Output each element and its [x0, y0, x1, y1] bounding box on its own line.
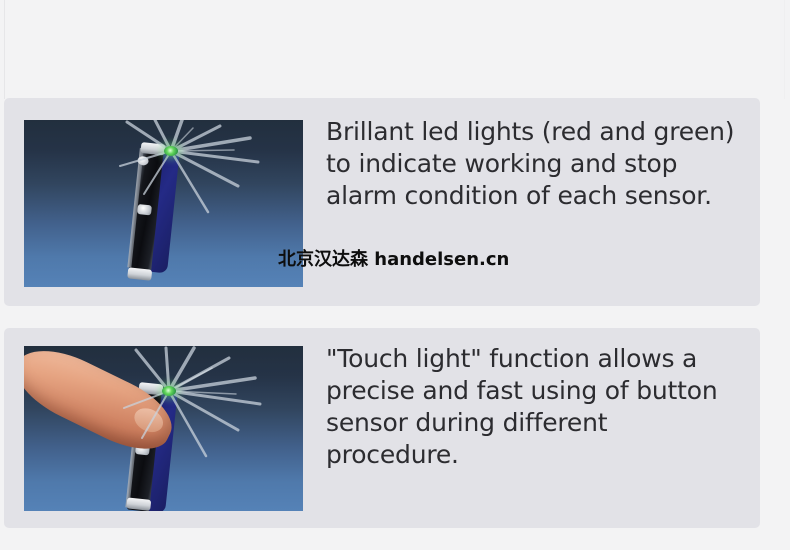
feature-panel-led-indicator[interactable]: Brillant led lights (red and green) to i… — [4, 98, 760, 306]
feature-description-led-indicator: Brillant led lights (red and green) to i… — [326, 116, 746, 212]
feature-panel-touch-light[interactable]: "Touch light" function allows a precise … — [4, 328, 760, 528]
left-divider-rule — [4, 0, 5, 99]
product-photo-led-indicator — [24, 120, 303, 287]
right-divider-rule — [784, 0, 785, 99]
feature-list-page: Brillant led lights (red and green) to i… — [0, 0, 790, 550]
feature-description-touch-light: "Touch light" function allows a precise … — [326, 343, 746, 471]
green-led-indicator — [162, 386, 176, 396]
sensor-device-body — [125, 146, 182, 278]
green-led-indicator — [164, 146, 178, 156]
finger-touching-sensor — [24, 346, 182, 463]
watermark-text: 北京汉达森 handelsen.cn — [278, 245, 509, 271]
product-photo-touch-light — [24, 346, 303, 511]
